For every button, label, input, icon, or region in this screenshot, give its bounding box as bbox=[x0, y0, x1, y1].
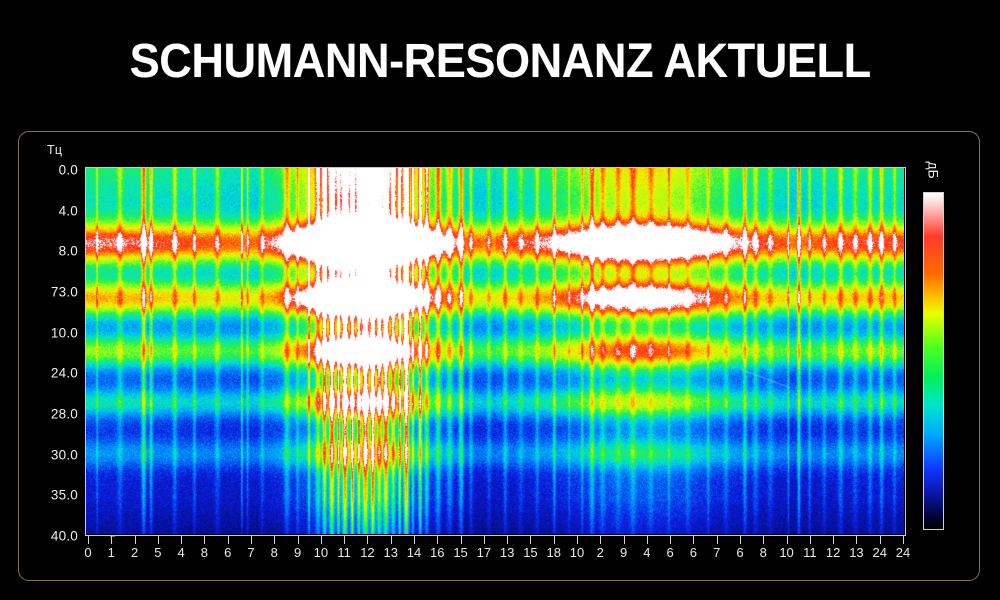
x-tick-label: 4 bbox=[643, 545, 650, 560]
x-tick-label: 9 bbox=[294, 545, 301, 560]
x-tick-label: 12 bbox=[360, 545, 374, 560]
x-tick-mark bbox=[787, 536, 788, 544]
x-tick-mark bbox=[693, 536, 694, 544]
x-tick-mark bbox=[204, 536, 205, 544]
x-tick-mark bbox=[158, 536, 159, 544]
x-tick-mark bbox=[903, 536, 904, 544]
x-tick-label: 6 bbox=[690, 545, 697, 560]
x-tick-mark bbox=[111, 536, 112, 544]
x-tick-label: 13 bbox=[383, 545, 397, 560]
x-tick-label: 18 bbox=[546, 545, 560, 560]
page-title: SCHUMANN-RESONANZ AKTUELL bbox=[129, 34, 870, 89]
x-tick-mark bbox=[414, 536, 415, 544]
x-tick-mark bbox=[298, 536, 299, 544]
x-tick-label: 12 bbox=[826, 545, 840, 560]
x-tick-label: 8 bbox=[201, 545, 208, 560]
x-tick-label: 24 bbox=[872, 545, 886, 560]
y-tick-label: 0.0 bbox=[59, 163, 78, 178]
colorbar-unit-text: дБ bbox=[926, 161, 942, 178]
x-tick-label: 11 bbox=[803, 545, 817, 560]
colorbar[interactable] bbox=[923, 192, 944, 530]
x-tick-label: 5 bbox=[154, 545, 161, 560]
x-tick-label: 6 bbox=[667, 545, 674, 560]
x-tick-label: 7 bbox=[713, 545, 720, 560]
spectrogram-image[interactable] bbox=[86, 168, 904, 534]
title-bar: SCHUMANN-RESONANZ AKTUELL bbox=[0, 0, 1000, 122]
x-tick-mark bbox=[647, 536, 648, 544]
y-tick-label: 24.0 bbox=[51, 366, 78, 381]
x-tick-label: 6 bbox=[736, 545, 743, 560]
x-tick-mark bbox=[740, 536, 741, 544]
x-tick-mark bbox=[670, 536, 671, 544]
x-tick-mark bbox=[461, 536, 462, 544]
x-tick-label: 1 bbox=[108, 545, 115, 560]
x-tick-mark bbox=[391, 536, 392, 544]
x-tick-mark bbox=[507, 536, 508, 544]
x-axis-ticks bbox=[85, 536, 906, 545]
x-tick-label: 9 bbox=[620, 545, 627, 560]
x-tick-mark bbox=[624, 536, 625, 544]
x-tick-label: 0 bbox=[84, 545, 91, 560]
x-tick-label: 11 bbox=[337, 545, 351, 560]
x-tick-mark bbox=[763, 536, 764, 544]
x-tick-mark bbox=[833, 536, 834, 544]
x-tick-label: 4 bbox=[178, 545, 185, 560]
x-tick-mark bbox=[880, 536, 881, 544]
x-tick-label: 8 bbox=[271, 545, 278, 560]
x-tick-label: 16 bbox=[430, 545, 444, 560]
y-tick-label: 4.0 bbox=[59, 203, 78, 218]
x-tick-label: 15 bbox=[453, 545, 467, 560]
y-tick-label: 30.0 bbox=[51, 447, 78, 462]
y-axis-labels: 0.04.08.073.010.024.028.030.035.040.0 bbox=[30, 0, 78, 600]
x-tick-label: 17 bbox=[477, 545, 491, 560]
y-tick-label: 8.0 bbox=[59, 244, 78, 259]
x-tick-mark bbox=[810, 536, 811, 544]
x-tick-mark bbox=[274, 536, 275, 544]
x-tick-mark bbox=[88, 536, 89, 544]
x-tick-label: 7 bbox=[247, 545, 254, 560]
y-tick-label: 28.0 bbox=[51, 407, 78, 422]
x-tick-mark bbox=[228, 536, 229, 544]
x-tick-mark bbox=[367, 536, 368, 544]
x-tick-label: 24 bbox=[896, 545, 910, 560]
x-tick-mark bbox=[577, 536, 578, 544]
x-tick-mark bbox=[717, 536, 718, 544]
x-tick-mark bbox=[856, 536, 857, 544]
x-tick-label: 6 bbox=[224, 545, 231, 560]
x-tick-mark bbox=[554, 536, 555, 544]
x-axis-labels: 0125486789101112131416151713151810294667… bbox=[85, 545, 906, 567]
x-tick-mark bbox=[600, 536, 601, 544]
x-tick-mark bbox=[251, 536, 252, 544]
x-tick-label: 2 bbox=[597, 545, 604, 560]
x-tick-mark bbox=[437, 536, 438, 544]
x-tick-label: 13 bbox=[849, 545, 863, 560]
x-tick-label: 2 bbox=[131, 545, 138, 560]
y-tick-label: 10.0 bbox=[51, 325, 78, 340]
colorbar-unit-label: дБ bbox=[919, 150, 949, 190]
x-tick-label: 10 bbox=[314, 545, 328, 560]
x-tick-mark bbox=[321, 536, 322, 544]
x-tick-mark bbox=[181, 536, 182, 544]
x-tick-mark bbox=[530, 536, 531, 544]
spectrogram-plot-frame[interactable] bbox=[85, 167, 906, 536]
x-tick-mark bbox=[344, 536, 345, 544]
x-tick-label: 14 bbox=[407, 545, 421, 560]
x-tick-mark bbox=[484, 536, 485, 544]
y-tick-label: 35.0 bbox=[51, 488, 78, 503]
x-tick-label: 10 bbox=[570, 545, 584, 560]
y-tick-label: 40.0 bbox=[51, 529, 78, 544]
x-tick-mark bbox=[135, 536, 136, 544]
x-tick-label: 8 bbox=[760, 545, 767, 560]
y-tick-label: 73.0 bbox=[51, 285, 78, 300]
x-tick-label: 13 bbox=[500, 545, 514, 560]
x-tick-label: 15 bbox=[523, 545, 537, 560]
colorbar-gradient bbox=[924, 193, 943, 529]
x-tick-label: 10 bbox=[779, 545, 793, 560]
